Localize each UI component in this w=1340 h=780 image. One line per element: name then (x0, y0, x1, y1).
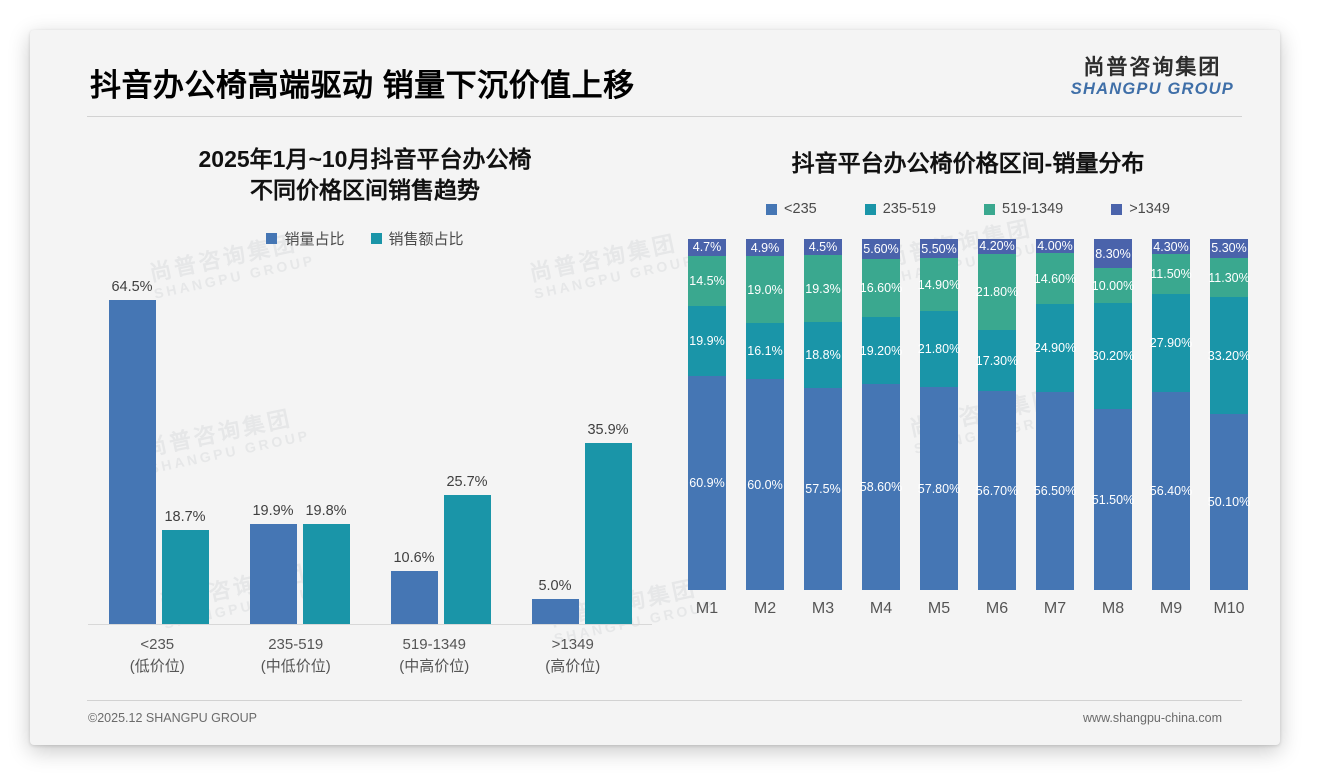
stack-segment-label: 56.50% (1034, 484, 1076, 498)
chart-panel-volume-distribution: 抖音平台办公椅价格区间-销量分布 <235235-519519-1349>134… (678, 130, 1258, 700)
tick-range: >1349 (508, 634, 638, 656)
footer-website[interactable]: www.shangpu-china.com (1083, 711, 1222, 725)
stack-segment-label: 16.1% (747, 344, 782, 358)
legend-swatch-icon (371, 233, 382, 244)
stack-segment-label: 17.30% (976, 354, 1018, 368)
stack-segment[interactable]: 19.0% (746, 256, 784, 323)
x-axis-tick-label: M1 (688, 600, 726, 618)
stack-segment-label: 19.20% (860, 344, 902, 358)
stack-segment-label: 4.00% (1037, 239, 1072, 253)
legend-label: 519-1349 (1002, 201, 1063, 217)
bar-column[interactable]: 25.7% (444, 495, 491, 624)
stack-segment[interactable]: 56.70% (978, 391, 1016, 590)
stack-segment-label: 11.50% (1150, 267, 1191, 281)
grouped-bar-plot: 64.5%18.7%19.9%19.8%10.6%25.7%5.0%35.9% (60, 273, 670, 625)
stack-segment-label: 56.70% (976, 484, 1018, 498)
stack-segment-label: 24.90% (1034, 341, 1076, 355)
legend-left: 销量占比 销售额占比 (60, 228, 670, 249)
legend-right: <235235-519519-1349>1349 (678, 201, 1258, 217)
stack-segment[interactable]: 14.90% (920, 258, 958, 310)
stack-segment-label: 51.50% (1092, 493, 1134, 507)
stack-segment-label: 14.60% (1034, 272, 1076, 286)
x-axis-line (88, 624, 652, 625)
stack-segment[interactable]: 56.50% (1036, 392, 1074, 590)
stack-segment[interactable]: 19.20% (862, 317, 900, 384)
bar-value-label: 25.7% (446, 474, 487, 490)
stack-segment[interactable]: 14.60% (1036, 253, 1074, 304)
stack-segment[interactable]: 4.5% (804, 239, 842, 255)
stack-segment[interactable]: 5.30% (1210, 239, 1248, 258)
bar-column[interactable]: 10.6% (391, 571, 438, 624)
brand-logo: 尚普咨询集团 SHANGPU GROUP (1071, 57, 1234, 98)
stack-segment-label: 21.80% (976, 285, 1018, 299)
stack-segment[interactable]: 58.60% (862, 384, 900, 590)
stack-segment-label: 4.5% (809, 240, 838, 254)
stack-segment[interactable]: 30.20% (1094, 303, 1132, 409)
bar[interactable] (585, 443, 632, 624)
footer-copyright: ©2025.12 SHANGPU GROUP (88, 711, 257, 725)
bar-group: 64.5%18.7% (94, 300, 224, 624)
stack-segment[interactable]: 10.00% (1094, 268, 1132, 303)
bar[interactable] (250, 524, 297, 624)
x-axis-tick-label: M2 (746, 600, 784, 618)
stack-segment-label: 10.00% (1092, 279, 1134, 293)
stack-segment[interactable]: 4.20% (978, 239, 1016, 254)
legend-item-revenue-share[interactable]: 销售额占比 (371, 228, 464, 249)
stacked-bar-column[interactable]: 4.7%14.5%19.9%60.9% (688, 239, 726, 590)
stack-segment[interactable]: 57.5% (804, 388, 842, 590)
logo-chinese-text: 尚普咨询集团 (1071, 57, 1234, 78)
chart-title-left-line2: 不同价格区间销售趋势 (60, 175, 670, 206)
chart-title-right: 抖音平台办公椅价格区间-销量分布 (678, 148, 1258, 179)
bar-group: 5.0%35.9% (517, 443, 647, 624)
chart-title-right-line1: 抖音平台办公椅价格区间-销量分布 (678, 148, 1258, 179)
x-axis-tick-label: 519-1349(中高价位) (369, 634, 499, 678)
x-axis-tick-label: M3 (804, 600, 842, 618)
x-axis-tick-label: M5 (920, 600, 958, 618)
bar-group: 19.9%19.8% (235, 524, 365, 624)
legend-swatch-icon (1111, 204, 1122, 215)
x-axis-tick-label: M9 (1152, 600, 1190, 618)
chart-title-left-line1: 2025年1月~10月抖音平台办公椅 (60, 144, 670, 175)
tick-sublabel: (低价位) (92, 656, 222, 678)
stack-segment-label: 5.30% (1211, 241, 1246, 255)
stack-segment-label: 21.80% (918, 342, 960, 356)
bar-column[interactable]: 19.9% (250, 524, 297, 624)
bar-column[interactable]: 64.5% (109, 300, 156, 624)
bar-value-label: 19.8% (305, 503, 346, 519)
legend-label: >1349 (1129, 201, 1170, 217)
stack-segment[interactable]: 4.00% (1036, 239, 1074, 253)
stacked-bar-column[interactable]: 4.00%14.60%24.90%56.50% (1036, 239, 1074, 590)
stack-segment-label: 8.30% (1095, 247, 1130, 261)
bar-value-label: 35.9% (587, 422, 628, 438)
stack-segment-label: 4.7% (693, 240, 722, 254)
legend-item-235-519[interactable]: 235-519 (865, 201, 936, 217)
bar[interactable] (303, 524, 350, 624)
stack-segment[interactable]: 21.80% (978, 254, 1016, 331)
stack-segment[interactable]: 18.8% (804, 322, 842, 388)
stack-segment[interactable]: 60.9% (688, 376, 726, 590)
legend-swatch-icon (984, 204, 995, 215)
bar-value-label: 18.7% (164, 509, 205, 525)
stack-segment[interactable]: 60.0% (746, 379, 784, 590)
legend-item-1349[interactable]: >1349 (1111, 201, 1170, 217)
stack-segment-label: 19.0% (747, 283, 782, 297)
stack-segment-label: 27.90% (1150, 336, 1192, 350)
stack-segment[interactable]: 17.30% (978, 330, 1016, 391)
stack-segment[interactable]: 8.30% (1094, 239, 1132, 268)
bar[interactable] (162, 530, 209, 624)
stack-segment-label: 58.60% (860, 480, 902, 494)
stacked-bar-column[interactable]: 4.9%19.0%16.1%60.0% (746, 239, 784, 590)
stack-segment[interactable]: 11.30% (1210, 258, 1248, 298)
x-axis-tick-label: M4 (862, 600, 900, 618)
stack-segment-label: 16.60% (860, 281, 902, 295)
stack-segment-label: 60.0% (747, 478, 782, 492)
chart-panel-sales-trend: 2025年1月~10月抖音平台办公椅 不同价格区间销售趋势 销量占比 销售额占比… (60, 130, 670, 700)
stack-segment-label: 19.9% (689, 334, 724, 348)
bar-column[interactable]: 35.9% (585, 443, 632, 624)
legend-swatch-icon (766, 204, 777, 215)
stack-segment-label: 60.9% (689, 476, 724, 490)
stack-segment-label: 4.9% (751, 241, 780, 255)
tick-range: <235 (92, 634, 222, 656)
x-axis-tick-label: M8 (1094, 600, 1132, 618)
slide-header: 抖音办公椅高端驱动 销量下沉价值上移 尚普咨询集团 SHANGPU GROUP (30, 30, 1280, 122)
stack-segment[interactable]: 21.80% (920, 311, 958, 388)
stack-segment-label: 19.3% (805, 282, 840, 296)
stacked-bar-column[interactable]: 8.30%10.00%30.20%51.50% (1094, 239, 1132, 590)
bar[interactable] (444, 495, 491, 624)
stack-segment[interactable]: 24.90% (1036, 304, 1074, 391)
stack-segment[interactable]: 5.60% (862, 239, 900, 259)
stack-segment[interactable]: 16.60% (862, 259, 900, 317)
bar[interactable] (391, 571, 438, 624)
legend-label: 销售额占比 (389, 228, 464, 249)
legend-item-volume-share[interactable]: 销量占比 (266, 228, 344, 249)
stack-segment[interactable]: 19.9% (688, 306, 726, 376)
header-divider (87, 116, 1242, 117)
tick-sublabel: (高价位) (508, 656, 638, 678)
legend-label: 销量占比 (284, 228, 344, 249)
page-title: 抖音办公椅高端驱动 销量下沉价值上移 (90, 60, 635, 105)
legend-swatch-icon (266, 233, 277, 244)
stack-segment[interactable]: 51.50% (1094, 409, 1132, 590)
stack-segment-label: 4.30% (1153, 240, 1188, 254)
stack-segment-label: 5.60% (863, 242, 898, 256)
stacked-bar-column[interactable]: 5.50%14.90%21.80%57.80% (920, 239, 958, 590)
x-axis-tick-label: 235-519(中低价位) (231, 634, 361, 678)
tick-sublabel: (中高价位) (369, 656, 499, 678)
stack-segment[interactable]: 56.40% (1152, 392, 1190, 590)
tick-sublabel: (中低价位) (231, 656, 361, 678)
stack-segment[interactable]: 4.7% (688, 239, 726, 255)
stack-segment[interactable]: 27.90% (1152, 294, 1190, 392)
x-axis-labels-left: <235(低价位)235-519(中低价位)519-1349(中高价位)>134… (88, 634, 642, 678)
bar-value-label: 10.6% (393, 550, 434, 566)
legend-item-519-1349[interactable]: 519-1349 (984, 201, 1063, 217)
tick-range: 519-1349 (369, 634, 499, 656)
stack-segment-label: 11.30% (1208, 271, 1249, 285)
stack-segment-label: 14.90% (918, 278, 960, 292)
bar-group: 10.6%25.7% (376, 495, 506, 624)
bar[interactable] (109, 300, 156, 624)
x-axis-tick-label: <235(低价位) (92, 634, 222, 678)
stack-segment[interactable]: 50.10% (1210, 414, 1248, 590)
stack-segment[interactable]: 16.1% (746, 323, 784, 380)
x-axis-labels-right: M1M2M3M4M5M6M7M8M9M10 (688, 600, 1248, 618)
stack-segment-label: 4.20% (979, 239, 1014, 253)
tick-range: 235-519 (231, 634, 361, 656)
stack-segment[interactable]: 57.80% (920, 387, 958, 590)
stack-segment-label: 57.5% (805, 482, 840, 496)
stack-segment-label: 30.20% (1092, 349, 1134, 363)
stack-segment[interactable]: 4.30% (1152, 239, 1190, 254)
bar-value-label: 64.5% (111, 279, 152, 295)
bar-value-label: 5.0% (538, 578, 571, 594)
slide-card: 尚普咨询集团SHANGPU GROUP 尚普咨询集团SHANGPU GROUP … (30, 30, 1280, 745)
legend-item-235[interactable]: <235 (766, 201, 817, 217)
stack-segment[interactable]: 14.5% (688, 256, 726, 307)
x-axis-tick-label: >1349(高价位) (508, 634, 638, 678)
stacked-bar-plot: 4.7%14.5%19.9%60.9%4.9%19.0%16.1%60.0%4.… (678, 239, 1258, 591)
logo-english-text: SHANGPU GROUP (1071, 81, 1234, 98)
stack-segment[interactable]: 11.50% (1152, 254, 1190, 294)
x-axis-tick-label: M6 (978, 600, 1016, 618)
stack-segment-label: 14.5% (689, 274, 724, 288)
stacked-bar-column[interactable]: 5.30%11.30%33.20%50.10% (1210, 239, 1248, 590)
stack-segment[interactable]: 19.3% (804, 255, 842, 323)
bar-column[interactable]: 19.8% (303, 524, 350, 624)
stacked-bar-column[interactable]: 4.5%19.3%18.8%57.5% (804, 239, 842, 590)
footer-divider (87, 700, 1242, 701)
bar-value-label: 19.9% (252, 503, 293, 519)
stack-segment-label: 18.8% (805, 348, 840, 362)
stack-segment-label: 33.20% (1208, 349, 1250, 363)
stack-segment[interactable]: 4.9% (746, 239, 784, 256)
stack-segment-label: 57.80% (918, 482, 960, 496)
stacked-bar-column[interactable]: 4.20%21.80%17.30%56.70% (978, 239, 1016, 590)
bar-column[interactable]: 18.7% (162, 530, 209, 624)
stack-segment-label: 5.50% (921, 242, 956, 256)
stacked-bar-column[interactable]: 4.30%11.50%27.90%56.40% (1152, 239, 1190, 590)
stack-segment[interactable]: 33.20% (1210, 297, 1248, 414)
x-axis-tick-label: M7 (1036, 600, 1074, 618)
chart-title-left: 2025年1月~10月抖音平台办公椅 不同价格区间销售趋势 (60, 144, 670, 206)
bar[interactable] (532, 599, 579, 624)
stack-segment-label: 50.10% (1208, 495, 1250, 509)
bar-column[interactable]: 5.0% (532, 599, 579, 624)
stack-segment[interactable]: 5.50% (920, 239, 958, 258)
x-axis-tick-label: M10 (1210, 600, 1248, 618)
legend-swatch-icon (865, 204, 876, 215)
legend-label: 235-519 (883, 201, 936, 217)
legend-label: <235 (784, 201, 817, 217)
stacked-bar-column[interactable]: 5.60%16.60%19.20%58.60% (862, 239, 900, 590)
stack-segment-label: 56.40% (1150, 484, 1192, 498)
